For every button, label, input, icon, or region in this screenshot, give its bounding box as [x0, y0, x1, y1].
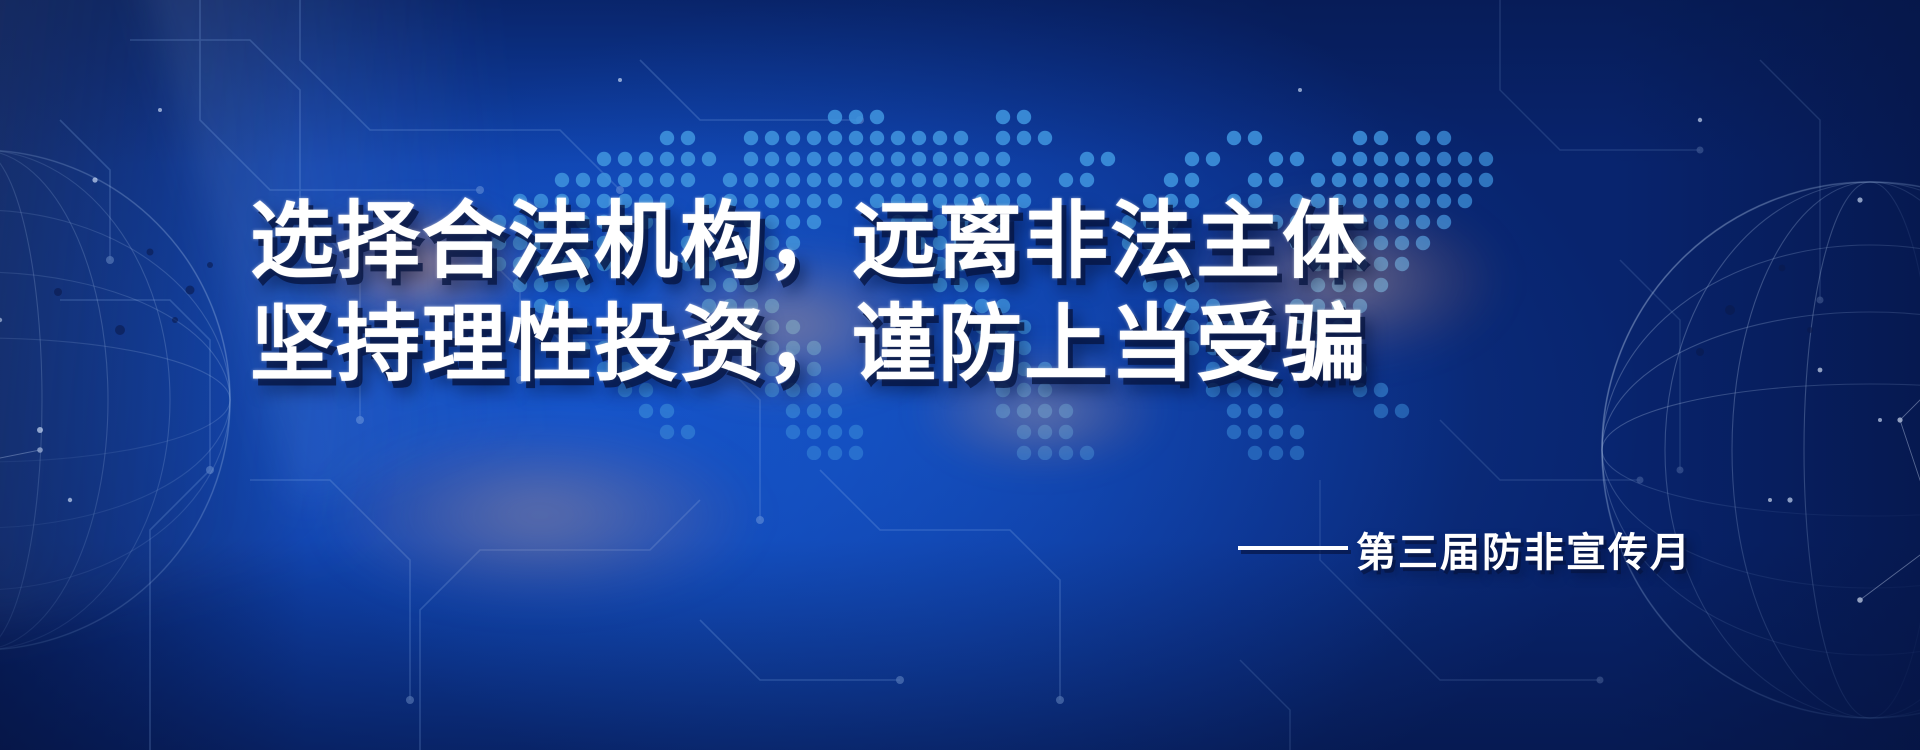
headline-line-2: 坚持理性投资，谨防上当受骗: [250, 293, 1360, 396]
attribution-dash-rule: [1238, 546, 1348, 550]
headline-block: 选择合法机构，远离非法主体 坚持理性投资，谨防上当受骗: [250, 190, 1360, 397]
attribution-text: 第三届防非宣传月: [1356, 520, 1692, 578]
headline-line-1: 选择合法机构，远离非法主体: [250, 190, 1360, 293]
promo-banner: 选择合法机构，远离非法主体 坚持理性投资，谨防上当受骗 第三届防非宣传月: [0, 0, 1920, 750]
attribution-block: 第三届防非宣传月: [1238, 520, 1692, 578]
